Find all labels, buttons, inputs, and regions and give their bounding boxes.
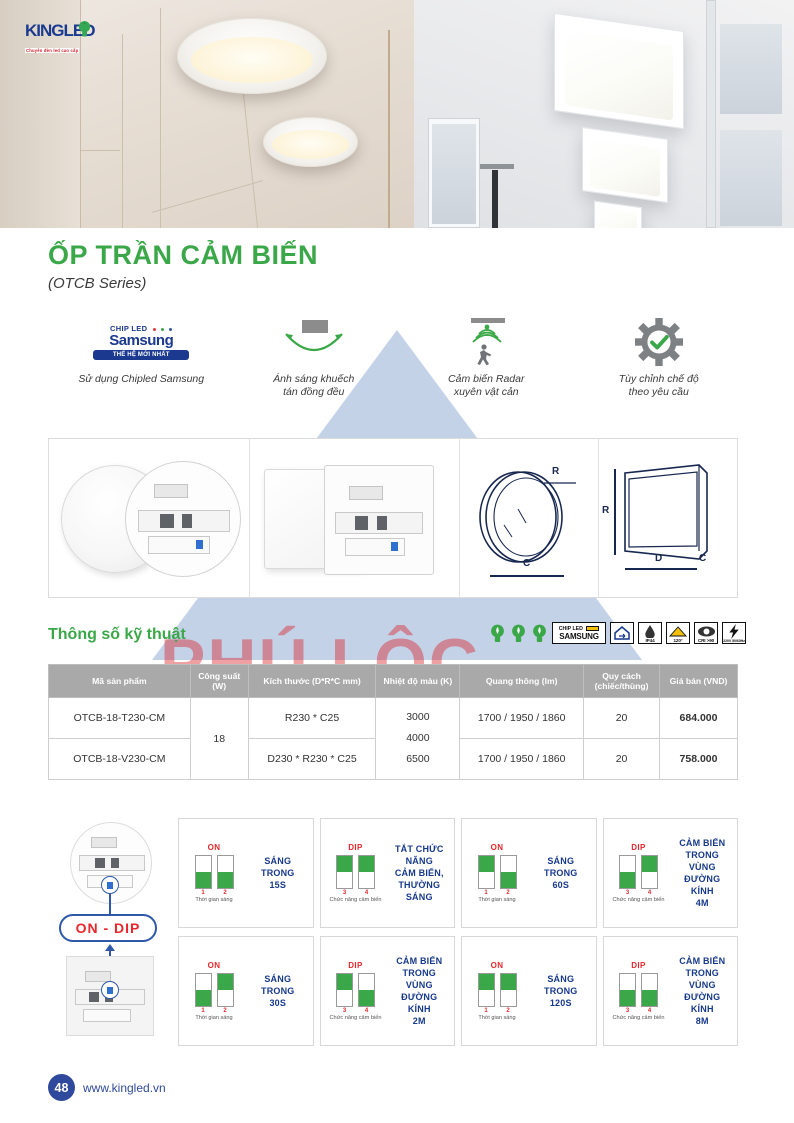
cell-product-code: OTCB-18-V230-CM — [49, 739, 191, 780]
feature-list: CHIP LED Samsung THẾ HỆ MỚI NHẤT Sử dụng… — [55, 318, 745, 410]
dip-mode-label: DIP — [348, 843, 363, 852]
page-title-block: ỐP TRẦN CẢM BIẾN (OTCB Series) — [48, 240, 318, 292]
dip-switch-section: ON - DIP ON 1 2 — [48, 818, 738, 1046]
dip-card: ON 1 2 Thời gian sáng SÁNG TRONG 30S — [178, 936, 314, 1046]
eco-bulb-icon — [489, 624, 506, 643]
dip-switch-number: 3 — [619, 890, 636, 896]
dip-switch-4 — [358, 855, 375, 889]
dip-switch-graphic: DIP 3 4 Chức năng cảm biến — [608, 961, 670, 1021]
square-dimension-drawing: R D C — [599, 439, 737, 597]
radar-sensor-icon — [451, 318, 521, 366]
cell-packing: 20 — [584, 698, 660, 739]
spec-section-heading: Thông số kỹ thuật — [48, 626, 186, 644]
hero-photos — [0, 0, 794, 228]
dip-switch-number: 2 — [217, 1008, 234, 1014]
dip-switch-3 — [336, 855, 353, 889]
light-lens — [590, 139, 661, 197]
beam-angle-icon: 120° — [666, 622, 690, 644]
dip-switch-2 — [500, 973, 517, 1007]
page-subtitle: (OTCB Series) — [48, 275, 318, 292]
dip-switch-number: 4 — [641, 1008, 658, 1014]
cell-packing: 20 — [584, 739, 660, 780]
dip-switch-number: 1 — [195, 890, 212, 896]
dip-mode-label: ON — [491, 961, 504, 970]
ip44-icon: IP44 — [638, 622, 662, 644]
dip-switch-4 — [641, 855, 658, 889]
feature-caption: Ánh sáng khuếch tán đồng đều — [273, 373, 354, 399]
certification-icons: CHIP LED SAMSUNG IP44 120° CRI >90 — [489, 622, 746, 644]
table-header-row: Mã sản phẩm Công suất (W) Kích thước (D*… — [49, 665, 738, 698]
th-lumen: Quang thông (lm) — [460, 665, 584, 698]
dip-mode-label: DIP — [631, 961, 646, 970]
cell-lumen: 1700 / 1950 / 1860 — [460, 698, 584, 739]
dip-location-marker-square — [101, 981, 119, 999]
dip-switch-number: 3 — [336, 890, 353, 896]
dip-footnote: Chức năng cảm biến — [613, 1015, 665, 1021]
table-row: OTCB-18-T230-CM 18 R230 * C25 3000 4000 … — [49, 698, 738, 739]
round-drawing-svg — [460, 439, 598, 597]
product-round-photo — [49, 439, 249, 597]
dip-location-marker-round — [101, 876, 119, 894]
dip-card-grid: ON 1 2 Thời gian sáng SÁNG TRONG 15S DIP — [178, 818, 738, 1046]
ceiling-light-square-medium — [582, 127, 668, 203]
dip-mode-label: ON — [208, 843, 221, 852]
dip-switch-4 — [358, 973, 375, 1007]
light-lens — [599, 208, 638, 228]
cell-power: 18 — [190, 698, 248, 780]
ceiling-light-square-large — [554, 13, 684, 129]
light-lens — [272, 130, 348, 160]
dip-mode-label: DIP — [348, 961, 363, 970]
dip-switch-number: 4 — [641, 890, 658, 896]
dip-switch-number: 3 — [336, 1008, 353, 1014]
feature-radar-sensor: Cảm biến Radar xuyên vật cản — [400, 318, 573, 410]
samsung-chip-icon: CHIP LED Samsung THẾ HỆ MỚI NHẤT — [93, 318, 189, 366]
hero-photo-square-ceiling-lights — [414, 0, 794, 228]
dip-switch-3 — [336, 973, 353, 1007]
dip-description: SÁNG TRONG 60S — [528, 855, 592, 891]
dip-card: ON 1 2 Thời gian sáng SÁNG TRONG 15S — [178, 818, 314, 928]
dip-switch-graphic: ON 1 2 Thời gian sáng — [183, 961, 245, 1021]
dip-card: ON 1 2 Thời gian sáng SÁNG TRONG 120S — [461, 936, 597, 1046]
dip-switch-3 — [619, 973, 636, 1007]
dip-description: SÁNG TRONG 15S — [245, 855, 309, 891]
square-light-back — [324, 465, 434, 575]
gear-check-icon — [633, 318, 685, 366]
dip-description: TẮT CHỨC NĂNG CẢM BIẾN, THƯỜNG SÁNG — [387, 843, 451, 903]
dip-switch-2 — [500, 855, 517, 889]
dip-footnote: Thời gian sáng — [478, 1015, 515, 1021]
dip-switch-1 — [195, 973, 212, 1007]
product-square-photo — [250, 439, 459, 597]
dip-footnote: Chức năng cảm biến — [330, 897, 382, 903]
th-price: Giá bán (VND) — [660, 665, 738, 698]
cell-cct: 3000 4000 6500 — [376, 698, 460, 780]
dip-switch-number: 1 — [478, 1008, 495, 1014]
dip-switch-number: 4 — [358, 890, 375, 896]
dip-mode-label: DIP — [631, 843, 646, 852]
spec-table: Mã sản phẩm Công suất (W) Kích thước (D*… — [48, 664, 738, 780]
ondip-illustration: ON - DIP — [48, 818, 168, 1046]
dip-description: CẢM BIẾN TRONG VÙNG ĐƯỜNG KÍNH 2M — [387, 955, 451, 1027]
dip-switch-number: 1 — [478, 890, 495, 896]
round-light-back — [125, 461, 241, 577]
ondip-badge: ON - DIP — [59, 914, 157, 942]
dip-switch-number: 2 — [500, 890, 517, 896]
th-size: Kích thước (D*R*C mm) — [248, 665, 376, 698]
square-drawing-svg — [599, 439, 737, 597]
indoor-house-icon — [610, 622, 634, 644]
feature-caption: Sử dụng Chipled Samsung — [78, 373, 204, 386]
round-r-label: R — [552, 466, 559, 477]
square-r-label: R — [602, 505, 609, 516]
dip-footnote: Thời gian sáng — [195, 897, 232, 903]
dip-footnote: Thời gian sáng — [195, 1015, 232, 1021]
dip-footnote: Chức năng cảm biến — [613, 897, 665, 903]
voltage-label: 220V 50/60Hz — [723, 639, 745, 643]
th-packing: Quy cách (chiếc/thùng) — [584, 665, 660, 698]
dip-switch-2 — [217, 973, 234, 1007]
dip-card: DIP 3 4 Chức năng cảm biến CẢM BIẾN TRON… — [320, 936, 456, 1046]
dip-description: SÁNG TRONG 30S — [245, 973, 309, 1009]
page-footer: 48 www.kingled.vn — [48, 1074, 166, 1101]
cell-price: 684.000 — [660, 698, 738, 739]
square-c-label: C — [699, 553, 706, 564]
product-images-panel: R C R D C — [48, 438, 738, 598]
dip-switch-number: 3 — [619, 1008, 636, 1014]
dip-description: CẢM BIẾN TRONG VÙNG ĐƯỜNG KÍNH 4M — [670, 837, 734, 909]
badge-generation-label: THẾ HỆ MỚI NHẤT — [93, 350, 189, 360]
badge-samsung-label: Samsung — [93, 333, 189, 349]
square-d-label: D — [655, 553, 662, 564]
logo-tagline: Chuyên đèn led cao cấp — [25, 48, 79, 53]
page-number-badge: 48 — [48, 1074, 75, 1101]
dip-description: CẢM BIẾN TRONG VÙNG ĐƯỜNG KÍNH 8M — [670, 955, 734, 1027]
light-diffusion-icon — [272, 318, 356, 366]
dip-card: ON 1 2 Thời gian sáng SÁNG TRONG 60S — [461, 818, 597, 928]
light-lens — [191, 37, 312, 83]
beam-angle-label: 120° — [667, 638, 689, 643]
chip-led-samsung-icon: CHIP LED SAMSUNG — [552, 622, 606, 644]
th-product-code: Mã sản phẩm — [49, 665, 191, 698]
arrow-up-icon — [105, 944, 115, 951]
feature-custom-mode: Tùy chỉnh chế độ theo yêu cầu — [573, 318, 746, 410]
feature-samsung-chip: CHIP LED Samsung THẾ HỆ MỚI NHẤT Sử dụng… — [55, 318, 228, 410]
cell-size: D230 * R230 * C25 — [248, 739, 376, 780]
dip-footnote: Thời gian sáng — [478, 897, 515, 903]
cell-product-code: OTCB-18-T230-CM — [49, 698, 191, 739]
dip-switch-graphic: ON 1 2 Thời gian sáng — [466, 843, 528, 903]
kingled-logo: KINGLED Chuyên đèn led cao cấp — [25, 22, 97, 52]
dip-switch-number: 1 — [195, 1008, 212, 1014]
voltage-icon: 220V 50/60Hz — [722, 622, 746, 644]
cert-samsung-line2: SAMSUNG — [559, 633, 599, 640]
dip-switch-graphic: DIP 3 4 Chức năng cảm biến — [608, 843, 670, 903]
dip-switch-number: 2 — [217, 890, 234, 896]
cell-price: 758.000 — [660, 739, 738, 780]
light-lens — [565, 31, 673, 121]
ip44-label: IP44 — [639, 638, 661, 643]
dip-switch-1 — [195, 855, 212, 889]
dip-footnote: Chức năng cảm biến — [330, 1015, 382, 1021]
dip-switch-graphic: DIP 3 4 Chức năng cảm biến — [325, 961, 387, 1021]
page-title: ỐP TRẦN CẢM BIẾN — [48, 240, 318, 271]
ceiling-light-round-small — [263, 117, 358, 167]
dip-switch-2 — [217, 855, 234, 889]
cri-icon: CRI >90 — [694, 622, 718, 644]
dip-mode-label: ON — [208, 961, 221, 970]
ceiling-light-square-small — [594, 201, 642, 228]
dip-card: DIP 3 4 Chức năng cảm biến CẢM BIẾN TRON… — [603, 818, 739, 928]
dip-switch-number: 2 — [500, 1008, 517, 1014]
th-power: Công suất (W) — [190, 665, 248, 698]
eco-bulb-icon — [510, 624, 527, 643]
dip-switch-graphic: ON 1 2 Thời gian sáng — [183, 843, 245, 903]
dip-switch-1 — [478, 973, 495, 1007]
bulb-icon — [77, 20, 92, 39]
dip-switch-3 — [619, 855, 636, 889]
feature-caption: Cảm biến Radar xuyên vật cản — [448, 373, 524, 399]
dip-switch-number: 4 — [358, 1008, 375, 1014]
cell-size: R230 * C25 — [248, 698, 376, 739]
dip-switch-graphic: DIP 3 4 Chức năng cảm biến — [325, 843, 387, 903]
dip-switch-1 — [478, 855, 495, 889]
cri-label: CRI >90 — [695, 638, 717, 643]
feature-light-diffusion: Ánh sáng khuếch tán đồng đều — [228, 318, 401, 410]
dip-card: DIP 3 4 Chức năng cảm biến CẢM BIẾN TRON… — [603, 936, 739, 1046]
round-c-label: C — [523, 558, 530, 569]
eco-bulb-icon — [531, 624, 548, 643]
dip-description: SÁNG TRONG 120S — [528, 973, 592, 1009]
dip-switch-4 — [641, 973, 658, 1007]
cell-lumen: 1700 / 1950 / 1860 — [460, 739, 584, 780]
th-cct: Nhiệt độ màu (K) — [376, 665, 460, 698]
dip-mode-label: ON — [491, 843, 504, 852]
round-dimension-drawing: R C — [460, 439, 598, 597]
ceiling-light-round-large — [177, 18, 327, 94]
dip-switch-graphic: ON 1 2 Thời gian sáng — [466, 961, 528, 1021]
dip-card: DIP 3 4 Chức năng cảm biến TẮT CHỨC NĂNG… — [320, 818, 456, 928]
feature-caption: Tùy chỉnh chế độ theo yêu cầu — [619, 373, 699, 399]
website-url[interactable]: www.kingled.vn — [83, 1081, 166, 1095]
